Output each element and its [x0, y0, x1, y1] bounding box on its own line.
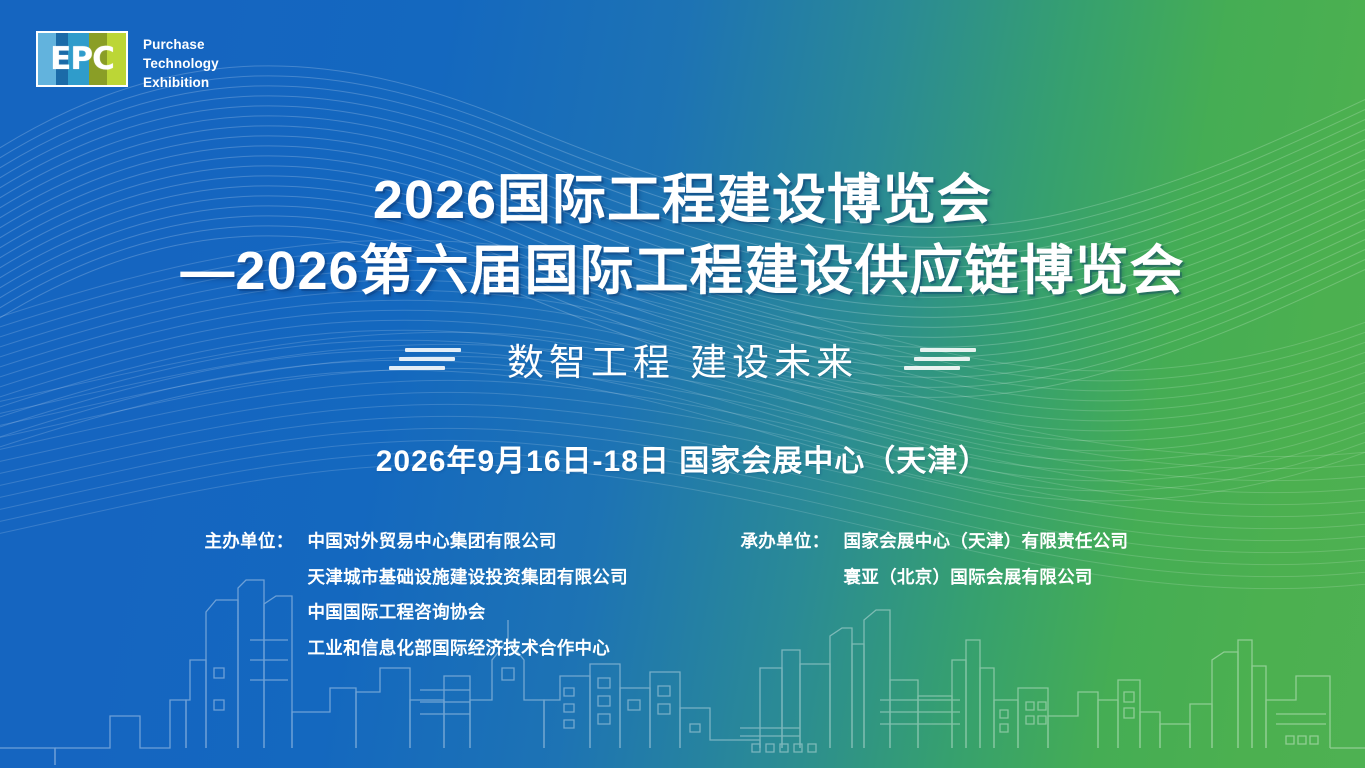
slogan-text: 数智工程 建设未来 — [507, 332, 858, 386]
host-organizers-list: 中国对外贸易中心集团有限公司 天津城市基础设施建设投资集团有限公司 中国国际工程… — [308, 524, 628, 666]
logo-letters: EPC — [38, 33, 126, 85]
host-organizers-label: 主办单位： — [205, 524, 294, 560]
host-organizer-item: 工业和信息化部国际经济技术合作中心 — [308, 631, 628, 667]
logo-tagline-line-3: Exhibition — [143, 73, 219, 92]
logo-tagline: Purchase Technology Exhibition — [143, 31, 219, 92]
headline-line-2: —2026第六届国际工程建设供应链博览会 — [0, 243, 1365, 300]
co-organizer-item: 国家会展中心（天津）有限责任公司 — [844, 524, 1129, 560]
host-organizer-item: 中国对外贸易中心集团有限公司 — [308, 524, 628, 560]
event-banner: EPC Purchase Technology Exhibition 2026国… — [0, 0, 1365, 768]
organizers-section: 主办单位： 中国对外贸易中心集团有限公司 天津城市基础设施建设投资集团有限公司 … — [0, 524, 1365, 666]
co-organizers-list: 国家会展中心（天津）有限责任公司 寰亚（北京）国际会展有限公司 — [844, 524, 1129, 595]
epc-logo: EPC Purchase Technology Exhibition — [36, 31, 219, 92]
logo-mark: EPC — [36, 31, 128, 87]
host-organizer-item: 中国国际工程咨询协会 — [308, 595, 628, 631]
host-organizers-block: 主办单位： 中国对外贸易中心集团有限公司 天津城市基础设施建设投资集团有限公司 … — [205, 524, 675, 666]
co-organizer-item: 寰亚（北京）国际会展有限公司 — [844, 560, 1129, 596]
headline-line-1: 2026国际工程建设博览会 — [0, 172, 1365, 229]
logo-tagline-line-1: Purchase — [143, 35, 219, 54]
co-organizers-label: 承办单位： — [741, 524, 830, 560]
date-and-venue: 2026年9月16日-18日 国家会展中心（天津） — [0, 436, 1365, 480]
slogan-dash-left-icon — [389, 346, 461, 372]
logo-tagline-line-2: Technology — [143, 54, 219, 73]
co-organizers-block: 承办单位： 国家会展中心（天津）有限责任公司 寰亚（北京）国际会展有限公司 — [741, 524, 1161, 666]
slogan-row: 数智工程 建设未来 — [0, 332, 1365, 386]
event-headline: 2026国际工程建设博览会 —2026第六届国际工程建设供应链博览会 — [0, 172, 1365, 300]
slogan-dash-right-icon — [904, 346, 976, 372]
host-organizer-item: 天津城市基础设施建设投资集团有限公司 — [308, 560, 628, 596]
